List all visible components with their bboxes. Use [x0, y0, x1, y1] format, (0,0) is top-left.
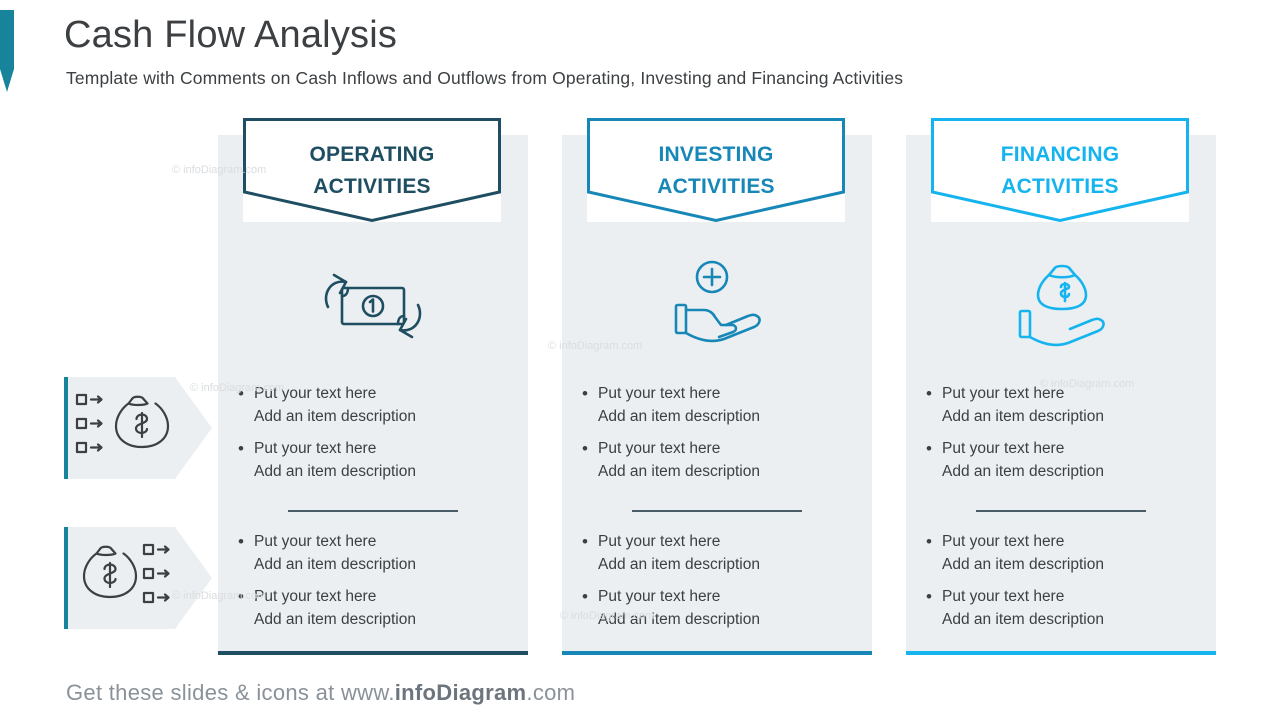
bullet-line-primary: Put your text here — [942, 382, 1176, 405]
bullet-glyph: • — [582, 585, 598, 632]
bullet-line-primary: Put your text here — [942, 530, 1176, 553]
bullet-list-investing-top: • Put your text here Add an item descrip… — [582, 382, 832, 491]
bullet-glyph: • — [926, 382, 942, 429]
bullet-line-primary: Put your text here — [254, 437, 488, 460]
page-title: Cash Flow Analysis — [64, 14, 397, 57]
bullet-line-secondary: Add an item description — [254, 460, 488, 483]
header-accent-bar — [0, 10, 14, 92]
banner-title-operating: OPERATING ACTIVITIES — [309, 139, 434, 202]
footer-text-before: Get these slides & icons at www. — [66, 680, 395, 705]
banner-title-investing: INVESTING ACTIVITIES — [657, 139, 775, 202]
footer-link[interactable]: Get these slides & icons at www.infoDiag… — [66, 680, 575, 706]
side-tag-accent-inflow — [64, 377, 68, 479]
banner-title-financing: FINANCING ACTIVITIES — [1001, 139, 1119, 202]
banner-title-line1: FINANCING — [1001, 143, 1119, 166]
banner-investing[interactable]: INVESTING ACTIVITIES — [587, 118, 845, 222]
list-item[interactable]: • Put your text here Add an item descrip… — [926, 585, 1176, 632]
banner-financing[interactable]: FINANCING ACTIVITIES — [931, 118, 1189, 222]
bullet-glyph: • — [926, 530, 942, 577]
side-tag-accent-outflow — [64, 527, 68, 629]
divider-investing — [632, 510, 802, 512]
divider-financing — [976, 510, 1146, 512]
bullet-line-primary: Put your text here — [254, 382, 488, 405]
list-item[interactable]: • Put your text here Add an item descrip… — [238, 382, 488, 429]
bullet-line-secondary: Add an item description — [942, 405, 1176, 428]
footer-brand: infoDiagram — [395, 680, 527, 705]
bullet-line-secondary: Add an item description — [942, 608, 1176, 631]
banner-title-line1: OPERATING — [309, 143, 434, 166]
column-underline-investing — [562, 651, 872, 655]
bullet-glyph: • — [582, 437, 598, 484]
bullet-glyph: • — [238, 585, 254, 632]
bullet-glyph: • — [582, 382, 598, 429]
banner-title-line2: ACTIVITIES — [1001, 175, 1119, 198]
bullet-line-secondary: Add an item description — [598, 608, 832, 631]
hand-plus-icon — [652, 255, 782, 355]
bullet-line-primary: Put your text here — [942, 437, 1176, 460]
bullet-line-primary: Put your text here — [598, 585, 832, 608]
bullet-glyph: • — [238, 530, 254, 577]
bullet-glyph: • — [582, 530, 598, 577]
list-item[interactable]: • Put your text here Add an item descrip… — [582, 437, 832, 484]
list-item[interactable]: • Put your text here Add an item descrip… — [926, 530, 1176, 577]
bullet-glyph: • — [926, 585, 942, 632]
bullet-list-operating-top: • Put your text here Add an item descrip… — [238, 382, 488, 491]
cash-inflow-icon — [74, 391, 178, 465]
list-item[interactable]: • Put your text here Add an item descrip… — [238, 585, 488, 632]
bullet-list-financing-bottom: • Put your text here Add an item descrip… — [926, 530, 1176, 639]
cash-outflow-icon — [74, 541, 178, 615]
bullet-line-secondary: Add an item description — [598, 405, 832, 428]
bullet-line-primary: Put your text here — [254, 585, 488, 608]
bullet-line-secondary: Add an item description — [942, 553, 1176, 576]
divider-operating — [288, 510, 458, 512]
bullet-line-primary: Put your text here — [598, 382, 832, 405]
bullet-list-financing-top: • Put your text here Add an item descrip… — [926, 382, 1176, 491]
banner-title-line1: INVESTING — [659, 143, 774, 166]
bullet-line-secondary: Add an item description — [254, 405, 488, 428]
list-item[interactable]: • Put your text here Add an item descrip… — [926, 437, 1176, 484]
bullet-line-secondary: Add an item description — [598, 553, 832, 576]
banner-operating[interactable]: OPERATING ACTIVITIES — [243, 118, 501, 222]
bullet-glyph: • — [238, 437, 254, 484]
bullet-glyph: • — [238, 382, 254, 429]
bullet-line-primary: Put your text here — [942, 585, 1176, 608]
bullet-list-operating-bottom: • Put your text here Add an item descrip… — [238, 530, 488, 639]
banner-title-line2: ACTIVITIES — [313, 175, 431, 198]
column-underline-financing — [906, 651, 1216, 655]
bullet-glyph: • — [926, 437, 942, 484]
list-item[interactable]: • Put your text here Add an item descrip… — [582, 382, 832, 429]
bullet-line-secondary: Add an item description — [598, 460, 832, 483]
banner-title-line2: ACTIVITIES — [657, 175, 775, 198]
list-item[interactable]: • Put your text here Add an item descrip… — [582, 585, 832, 632]
bullet-list-investing-bottom: • Put your text here Add an item descrip… — [582, 530, 832, 639]
list-item[interactable]: • Put your text here Add an item descrip… — [238, 530, 488, 577]
bullet-line-primary: Put your text here — [598, 530, 832, 553]
bullet-line-secondary: Add an item description — [254, 553, 488, 576]
bullet-line-primary: Put your text here — [254, 530, 488, 553]
bullet-line-secondary: Add an item description — [942, 460, 1176, 483]
page-subtitle: Template with Comments on Cash Inflows a… — [66, 68, 903, 89]
list-item[interactable]: • Put your text here Add an item descrip… — [926, 382, 1176, 429]
list-item[interactable]: • Put your text here Add an item descrip… — [238, 437, 488, 484]
hand-money-bag-icon — [996, 255, 1126, 355]
bullet-line-primary: Put your text here — [598, 437, 832, 460]
footer-text-after: .com — [526, 680, 575, 705]
column-underline-operating — [218, 651, 528, 655]
bullet-line-secondary: Add an item description — [254, 608, 488, 631]
list-item[interactable]: • Put your text here Add an item descrip… — [582, 530, 832, 577]
money-cycle-icon — [308, 255, 438, 355]
